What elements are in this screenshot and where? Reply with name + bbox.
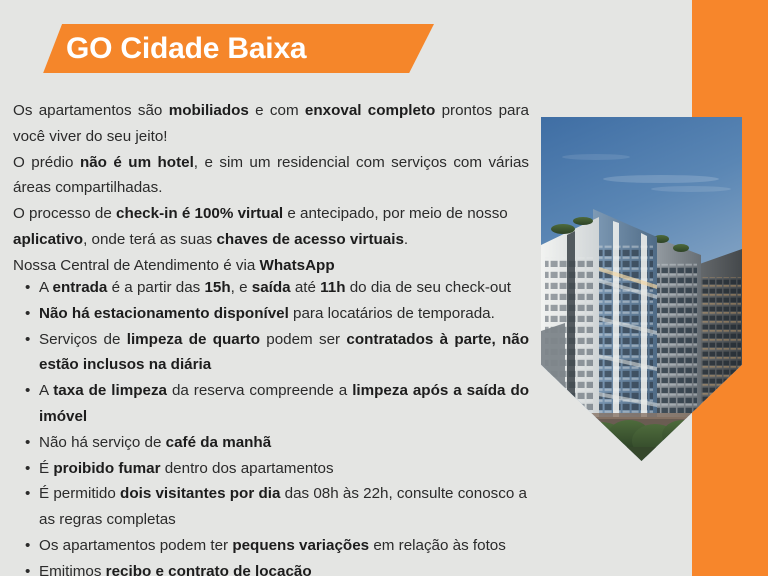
bullet-entrada-saida: A entrada é a partir das 15h, e saída at… xyxy=(25,275,529,301)
bullet-recibo-contrato-seg-1: recibo e contrato de locação xyxy=(106,563,312,576)
bullet-visitantes-seg-0: É permitido xyxy=(39,485,120,502)
bullet-visitantes: É permitido dois visitantes por dia das … xyxy=(25,481,529,533)
intro-p3-text-1: O processo de xyxy=(13,205,116,222)
intro-paragraph-3: O processo de check-in é 100% virtual e … xyxy=(13,201,529,253)
title-banner: GO Cidade Baixa xyxy=(40,24,434,73)
intro-block: Os apartamentos são mobiliados e com enx… xyxy=(13,98,529,279)
bullet-taxa-limpeza-seg-1: taxa de limpeza xyxy=(53,382,167,399)
intro-p1-text-1: Os apartamentos são xyxy=(13,102,169,119)
bullet-entrada-saida-seg-1: entrada xyxy=(53,279,108,296)
intro-p2-bold-1: não é um hotel xyxy=(80,154,194,171)
bullet-cafe-manha-seg-1: café da manhã xyxy=(166,434,272,451)
bullet-entrada-saida-seg-8: do dia de seu check-out xyxy=(346,279,511,296)
intro-p3-bold-2: aplicativo xyxy=(13,231,83,248)
intro-p4-text-1: Nossa Central de Atendimento é via xyxy=(13,257,260,274)
intro-p3-bold-1: check-in é 100% virtual xyxy=(116,205,283,222)
bullet-entrada-saida-seg-2: é a partir das xyxy=(107,279,204,296)
intro-p3-text-4: . xyxy=(404,231,408,248)
intro-p3-bold-3: chaves de acesso virtuais xyxy=(216,231,403,248)
bullet-entrada-saida-seg-0: A xyxy=(39,279,53,296)
intro-p3-text-3: , onde terá as suas xyxy=(83,231,216,248)
bullet-limpeza-quarto-seg-2: podem ser xyxy=(260,331,346,348)
bullet-variacoes: Os apartamentos podem ter pequens variaç… xyxy=(25,533,529,559)
bullet-limpeza-quarto-seg-1: limpeza de quarto xyxy=(127,331,260,348)
intro-paragraph-2: O prédio não é um hotel, e sim um reside… xyxy=(13,150,529,202)
bullet-entrada-saida-seg-6: até xyxy=(291,279,321,296)
intro-p3-text-2: e antecipado, por meio de nosso xyxy=(283,205,508,222)
intro-p1-bold-2: enxoval completo xyxy=(305,102,435,119)
bullet-taxa-limpeza: A taxa de limpeza da reserva compreende … xyxy=(25,378,529,430)
bullet-taxa-limpeza-seg-0: A xyxy=(39,382,53,399)
bullet-taxa-limpeza-seg-2: da reserva compreende a xyxy=(167,382,352,399)
intro-p1-text-2: e com xyxy=(249,102,305,119)
intro-p2-text-1: O prédio xyxy=(13,154,80,171)
bullet-cafe-manha-seg-0: Não há serviço de xyxy=(39,434,166,451)
page-title: GO Cidade Baixa xyxy=(66,34,306,64)
bullet-visitantes-seg-1: dois visitantes por dia xyxy=(120,485,280,502)
bullet-proibido-fumar-seg-2: dentro dos apartamentos xyxy=(161,460,334,477)
rules-bullet-list: A entrada é a partir das 15h, e saída at… xyxy=(25,275,529,576)
bullet-entrada-saida-seg-5: saída xyxy=(252,279,291,296)
bullet-recibo-contrato-seg-0: Emitimos xyxy=(39,563,106,576)
bullet-estacionamento: Não há estacionamento disponível para lo… xyxy=(25,301,529,327)
bullet-entrada-saida-seg-3: 15h xyxy=(204,279,230,296)
intro-p1-bold-1: mobiliados xyxy=(169,102,249,119)
slide-root: GO Cidade Baixa Os apartamentos são mobi… xyxy=(0,0,768,576)
bullet-variacoes-seg-1: pequens variações xyxy=(232,537,369,554)
bullet-estacionamento-seg-0: Não há estacionamento disponível xyxy=(39,305,289,322)
bullet-proibido-fumar-seg-0: É xyxy=(39,460,53,477)
bullet-limpeza-quarto-seg-0: Serviços de xyxy=(39,331,127,348)
bullet-entrada-saida-seg-4: , e xyxy=(231,279,252,296)
bullet-proibido-fumar: É proibido fumar dentro dos apartamentos xyxy=(25,456,529,482)
bullet-entrada-saida-seg-7: 11h xyxy=(320,279,345,296)
bullet-variacoes-seg-2: em relação às fotos xyxy=(369,537,506,554)
bullet-variacoes-seg-0: Os apartamentos podem ter xyxy=(39,537,232,554)
bullet-recibo-contrato: Emitimos recibo e contrato de locação xyxy=(25,559,529,576)
bullet-limpeza-quarto: Serviços de limpeza de quarto podem ser … xyxy=(25,327,529,379)
intro-p4-bold-1: WhatsApp xyxy=(260,257,335,274)
bullet-proibido-fumar-seg-1: proibido fumar xyxy=(53,460,160,477)
intro-paragraph-1: Os apartamentos são mobiliados e com enx… xyxy=(13,98,529,150)
bullet-estacionamento-seg-1: para locatários de temporada. xyxy=(289,305,495,322)
bullet-cafe-manha: Não há serviço de café da manhã xyxy=(25,430,529,456)
